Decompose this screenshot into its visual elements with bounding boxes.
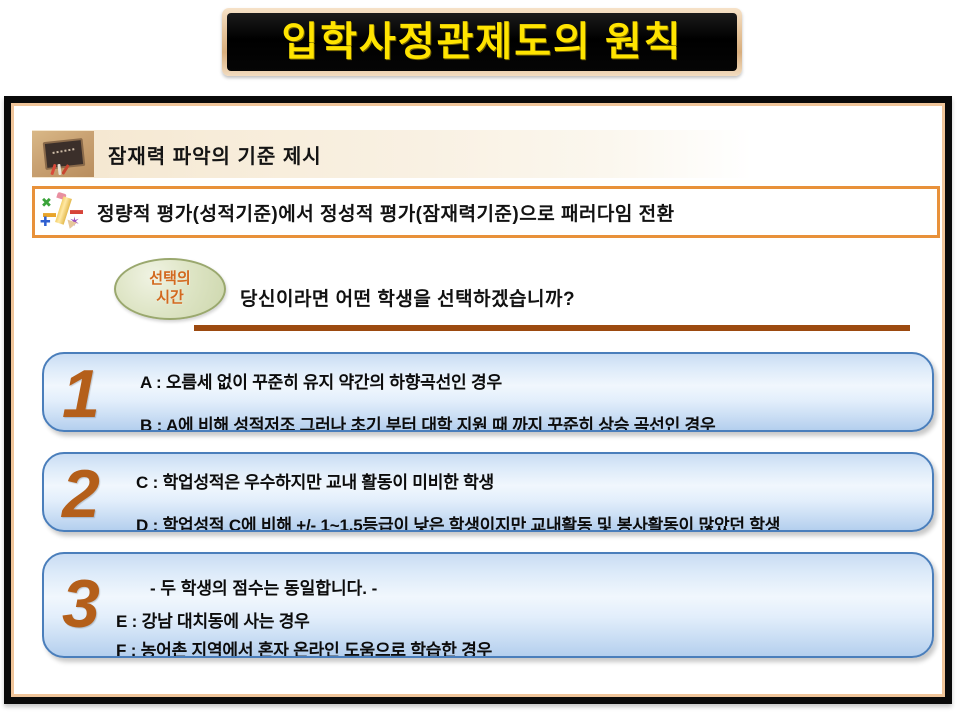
chalkboard-icon <box>32 131 94 177</box>
math-symbol-plus: ✚ <box>40 215 51 228</box>
heading-row: 잠재력 파악의 기준 제시 <box>32 130 322 178</box>
option-box-1-number: 1 <box>62 360 100 428</box>
slide-title-inner: 입학사정관제도의 원칙 <box>227 13 737 71</box>
choice-time-label-line1: 선택의 <box>149 270 190 289</box>
choice-question-text: 당신이라면 어떤 학생을 선택하겠습니까? <box>240 284 575 311</box>
content-frame: 잠재력 파악의 기준 제시 ✖ ▬ ▬ ✚ ✶ 정량적 평가(성적기준)에서 정… <box>4 96 952 704</box>
option-line-a: A : 오름세 없이 꾸준히 유지 약간의 하향곡선인 경우 <box>140 368 918 393</box>
option-box-2-lines: C : 학업성적은 우수하지만 교내 활동이 미비한 학생 D : 학업성적 C… <box>136 468 918 532</box>
option-box-3-number: 3 <box>62 570 100 638</box>
statement-box: ✖ ▬ ▬ ✚ ✶ 정량적 평가(성적기준)에서 정성적 평가(잠재력기준)으로… <box>32 186 940 238</box>
option-line-b: B : A에 비해 성적저조 그러나 초기 부터 대학 지원 때 까지 꾸준히 … <box>140 411 918 432</box>
pencil-math-icon: ✖ ▬ ▬ ✚ ✶ <box>39 190 85 234</box>
chalkboard-scribble <box>52 148 75 161</box>
option-line-c: C : 학업성적은 우수하지만 교내 활동이 미비한 학생 <box>136 468 918 493</box>
slide-title-plaque: 입학사정관제도의 원칙 <box>222 8 742 76</box>
statement-text: 정량적 평가(성적기준)에서 정성적 평가(잠재력기준)으로 패러다임 전환 <box>97 199 675 226</box>
choice-time-badge: 선택의 시간 <box>114 258 226 320</box>
page-title: 입학사정관제도의 원칙 <box>281 22 682 62</box>
option-box-3-note: - 두 학생의 점수는 동일합니다. - <box>150 574 918 599</box>
option-line-f: F : 농어촌 지역에서 혼자 온라인 도움으로 학습한 경우 <box>116 636 918 658</box>
option-box-3-lines: - 두 학생의 점수는 동일합니다. - E : 강남 대치동에 사는 경우 F… <box>116 574 918 658</box>
frame-body: 잠재력 파악의 기준 제시 ✖ ▬ ▬ ✚ ✶ 정량적 평가(성적기준)에서 정… <box>14 106 942 694</box>
heading-text: 잠재력 파악의 기준 제시 <box>108 140 322 169</box>
choice-time-label-line2: 시간 <box>156 289 184 308</box>
option-box-3: 3 - 두 학생의 점수는 동일합니다. - E : 강남 대치동에 사는 경우… <box>42 552 934 658</box>
option-box-2: 2 C : 학업성적은 우수하지만 교내 활동이 미비한 학생 D : 학업성적… <box>42 452 934 532</box>
option-line-d: D : 학업성적 C에 비해 +/- 1~1.5등급이 낮은 학생이지만 교내활… <box>136 511 918 532</box>
chalkboard-board-shape <box>43 138 86 170</box>
option-box-2-number: 2 <box>62 460 100 528</box>
option-box-1: 1 A : 오름세 없이 꾸준히 유지 약간의 하향곡선인 경우 B : A에 … <box>42 352 934 432</box>
option-line-e: E : 강남 대치동에 사는 경우 <box>116 607 918 632</box>
option-box-1-lines: A : 오름세 없이 꾸준히 유지 약간의 하향곡선인 경우 B : A에 비해… <box>140 368 918 432</box>
section-divider-bar <box>194 325 910 331</box>
